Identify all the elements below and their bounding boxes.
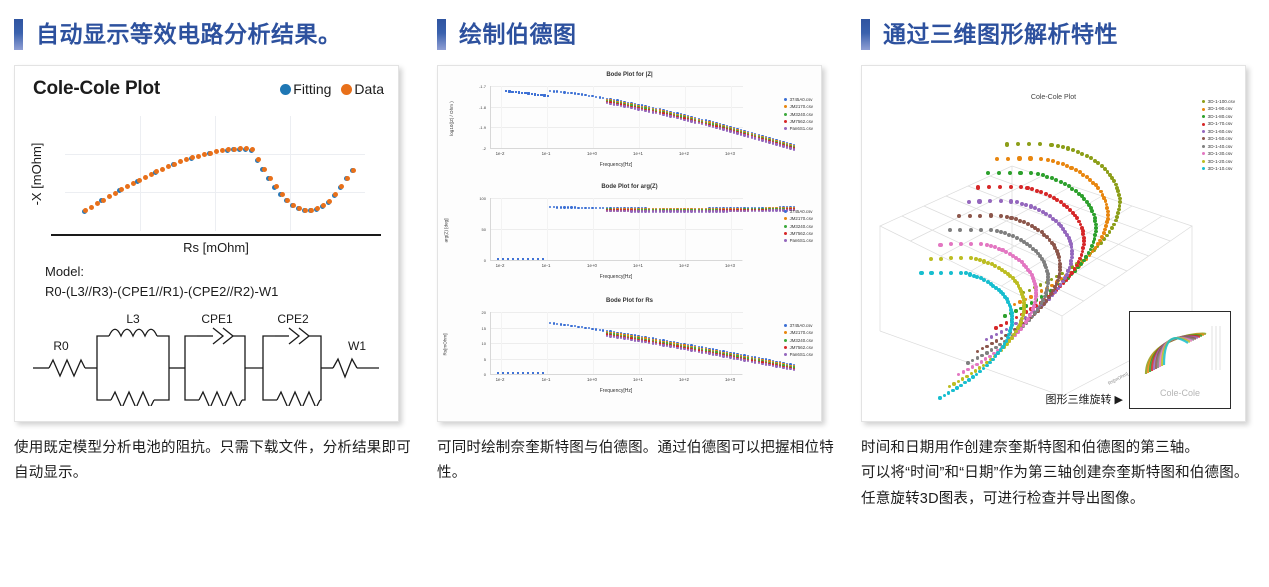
bode-data-point — [743, 134, 745, 136]
cole-cole-data-point — [274, 184, 279, 189]
bode-data-point — [591, 207, 593, 209]
bode-legend-label: JM7562.csv — [790, 118, 813, 125]
three-d-data-point — [1018, 171, 1022, 175]
three-d-data-point — [1036, 172, 1040, 176]
bode-legend-item: Pan6S1.csv — [784, 351, 813, 358]
bode-x-tick-label: 1e+1 — [633, 263, 643, 268]
three-d-data-point — [999, 214, 1003, 218]
panel-heading-2: 绘制伯德图 — [437, 0, 849, 58]
bode-data-point — [779, 144, 781, 146]
bode-legend-item: JM7562.csv — [784, 230, 813, 237]
bode-data-point — [567, 324, 569, 326]
bode-data-point — [683, 119, 685, 121]
bode-data-point — [690, 210, 692, 212]
bode-data-point — [708, 210, 710, 212]
bode-data-point — [540, 94, 542, 96]
bode-subplot: Bode Plot for Rs20151050Rs[mOhm]1e-21e-1… — [438, 298, 821, 390]
inset-thumbnail-graphic: Cole-Cole — [1130, 312, 1230, 408]
panel-3d: 通过三维图形解析特性 Cole-Cole Plot 3D-1-100.csv3D… — [861, 0, 1269, 587]
bode-data-point — [560, 323, 562, 325]
three-d-data-point — [971, 375, 975, 379]
bode-y-axis-label: log10(|Z| / Ohm ) — [449, 101, 454, 136]
bode-y-tick-label: 0 — [466, 258, 486, 263]
bode-data-point — [740, 358, 742, 360]
three-d-data-point — [985, 345, 988, 348]
legend-label-data: Data — [354, 81, 384, 97]
bode-x-tick-label: 1e+3 — [725, 263, 735, 268]
bode-data-point — [574, 206, 576, 208]
bode-y-tick-label: 10 — [466, 341, 486, 346]
three-d-data-point — [999, 324, 1002, 327]
bode-legend-item: JM3240.csv — [784, 223, 813, 230]
three-d-data-point — [989, 228, 993, 232]
cole-cole-plot-area — [65, 116, 365, 231]
bode-data-point — [698, 122, 700, 124]
bode-data-point — [768, 364, 770, 366]
bode-data-point — [652, 342, 654, 344]
three-d-data-point — [1046, 158, 1050, 162]
bode-x-tick-label: 1e+1 — [633, 377, 643, 382]
bode-data-point — [606, 335, 608, 337]
bode-data-point — [556, 90, 558, 92]
bode-data-point — [655, 112, 657, 114]
bode-data-point — [534, 93, 536, 95]
bode-y-tick-label: 100 — [466, 196, 486, 201]
bode-data-point — [581, 207, 583, 209]
bode-data-point — [722, 128, 724, 130]
bode-data-point — [690, 120, 692, 122]
three-d-data-point — [1056, 144, 1060, 148]
bode-data-point — [786, 367, 788, 369]
bode-data-point — [641, 210, 643, 212]
bode-data-point — [751, 136, 753, 138]
bode-data-point — [673, 210, 675, 212]
bode-y-axis-label: arg(Z) [deg] — [444, 219, 449, 243]
heading-title-2: 绘制伯德图 — [459, 23, 577, 46]
three-d-data-point — [1033, 311, 1037, 315]
bode-legend-label: Pan6S1.csv — [790, 125, 813, 132]
three-d-card[interactable]: Cole-Cole Plot 3D-1-100.csv3D-1-90.csv3D… — [861, 65, 1246, 422]
inset-caption[interactable]: 图形三维旋转 ▶ — [1045, 391, 1123, 407]
bode-data-point — [567, 206, 569, 208]
three-d-data-point — [988, 361, 992, 365]
bode-data-point — [712, 353, 714, 355]
cole-cole-data-point — [196, 154, 201, 159]
cole-cole-data-point — [89, 205, 94, 210]
bode-legend-item: 3745A0.csv — [784, 208, 813, 215]
bode-data-point — [652, 210, 654, 212]
cole-cole-data-point — [83, 208, 88, 213]
bode-data-point — [761, 139, 763, 141]
bode-data-point — [595, 96, 597, 98]
bode-subplot-title: Bode Plot for arg(Z) — [438, 184, 821, 190]
bode-data-point — [712, 126, 714, 128]
bode-data-point — [733, 357, 735, 359]
bode-data-point — [515, 91, 517, 93]
bode-data-point — [623, 210, 625, 212]
three-d-data-point — [979, 228, 983, 232]
bode-data-point — [719, 127, 721, 129]
bode-data-point — [553, 322, 555, 324]
three-d-data-point — [989, 213, 993, 217]
cole-cole-data-point — [107, 194, 112, 199]
legend-marker-icon — [784, 324, 787, 327]
bode-data-point — [584, 207, 586, 209]
three-d-data-point — [1008, 171, 1012, 175]
bode-data-point — [715, 354, 717, 356]
bode-data-point — [563, 324, 565, 326]
bode-data-point — [747, 135, 749, 137]
legend-marker-icon — [784, 232, 787, 235]
circuit-label-r0: R0 — [53, 339, 69, 353]
caption-3-line-1: 时间和日期用作创建奈奎斯特图和伯德图的第三轴。 — [861, 436, 1261, 461]
three-d-data-point — [938, 396, 941, 399]
bode-data-point — [673, 346, 675, 348]
bode-x-tick-label: 1e-2 — [496, 377, 505, 382]
bode-legend-label: 3745A0.csv — [790, 208, 813, 215]
panel-heading-1: 自动显示等效电路分析结果。 — [14, 0, 426, 58]
bode-data-point — [623, 337, 625, 339]
bode-data-point — [701, 351, 703, 353]
bode-data-point — [599, 329, 601, 331]
bode-data-point — [521, 92, 523, 94]
bode-data-point — [591, 328, 593, 330]
bode-y-tick-label: -1.8 — [466, 105, 486, 110]
rotation-preview-inset[interactable]: Cole-Cole — [1129, 311, 1231, 409]
bode-data-point — [634, 210, 636, 212]
bode-data-point — [602, 329, 604, 331]
cole-cole-title: Cole-Cole Plot — [33, 78, 160, 100]
bode-data-point — [726, 210, 728, 212]
bode-data-point — [527, 92, 529, 94]
bode-data-point — [630, 210, 632, 212]
bode-data-point — [676, 347, 678, 349]
bode-data-point — [637, 108, 639, 110]
bode-data-point — [595, 207, 597, 209]
bode-data-point — [694, 210, 696, 212]
bode-x-tick-label: 1e+2 — [679, 377, 689, 382]
bode-data-point — [531, 93, 533, 95]
bode-data-point — [726, 129, 728, 131]
bode-x-tick-label: 1e+2 — [679, 263, 689, 268]
bode-data-point — [570, 325, 572, 327]
bode-data-point — [758, 362, 760, 364]
bode-data-point — [747, 210, 749, 212]
bode-data-point — [694, 121, 696, 123]
bode-data-point — [669, 345, 671, 347]
bode-data-point — [793, 369, 795, 371]
bode-data-point — [719, 354, 721, 356]
bode-data-point — [715, 127, 717, 129]
legend-marker-icon — [784, 113, 787, 116]
bode-legend-label: JM3240.csv — [790, 111, 813, 118]
bode-data-point — [705, 352, 707, 354]
bode-data-point — [736, 210, 738, 212]
heading-title-1: 自动显示等效电路分析结果。 — [36, 23, 342, 46]
three-d-data-point — [1014, 309, 1017, 312]
bode-data-point — [775, 209, 777, 211]
bode-data-point — [655, 210, 657, 212]
bode-data-point — [553, 206, 555, 208]
bode-data-point — [754, 137, 756, 139]
three-d-data-point — [1084, 255, 1088, 259]
bode-data-point — [659, 210, 661, 212]
bode-x-tick-label: 1e+0 — [587, 263, 597, 268]
bode-plot-area — [490, 198, 743, 260]
bode-data-point — [511, 91, 513, 93]
cole-cole-data-point — [256, 157, 261, 162]
three-d-data-point — [1028, 156, 1032, 160]
three-d-data-point — [1005, 142, 1009, 146]
circuit-label-cpe2: CPE2 — [277, 312, 309, 326]
bode-data-point — [669, 115, 671, 117]
three-d-data-point — [959, 384, 962, 387]
three-d-data-point — [1061, 162, 1065, 166]
bode-data-point — [620, 210, 622, 212]
bode-legend: 3745A0.csvJM2170.csvJM3240.csvJM7562.csv… — [784, 96, 813, 132]
three-d-data-point — [962, 370, 965, 373]
cole-cole-data-point — [125, 184, 130, 189]
bode-y-tick-label: 0 — [466, 372, 486, 377]
bode-x-axis-label: Frequency[Hz] — [490, 274, 742, 280]
bode-data-point — [747, 360, 749, 362]
bode-data-point — [574, 92, 576, 94]
bode-x-tick-label: 1e+1 — [633, 151, 643, 156]
bode-data-point — [701, 210, 703, 212]
bode-data-point — [705, 210, 707, 212]
bode-data-point — [698, 210, 700, 212]
bode-y-tick-label: 50 — [466, 227, 486, 232]
bode-data-point — [560, 91, 562, 93]
bode-data-point — [751, 210, 753, 212]
bode-x-tick-label: 1e-1 — [542, 151, 551, 156]
three-d-data-point — [955, 386, 958, 389]
bode-data-point — [765, 363, 767, 365]
bode-legend-label: JM2170.csv — [790, 103, 813, 110]
bode-x-tick-label: 1e-1 — [542, 263, 551, 268]
bode-legend-label: 3745A0.csv — [790, 96, 813, 103]
bode-data-point — [765, 140, 767, 142]
bode-y-axis-label: Rs[mOhm] — [442, 334, 447, 356]
legend-marker-icon — [784, 120, 787, 123]
bode-data-point — [722, 355, 724, 357]
bode-data-point — [659, 113, 661, 115]
bode-subplot: Bode Plot for arg(Z)100500arg(Z) [deg]1e… — [438, 184, 821, 276]
bode-legend-item: JM7562.csv — [784, 344, 813, 351]
three-d-data-point — [977, 199, 981, 203]
svg-text:Cole-Cole: Cole-Cole — [1160, 388, 1200, 398]
bode-data-point — [775, 365, 777, 367]
bode-data-point — [637, 340, 639, 342]
bode-data-point — [556, 323, 558, 325]
bode-x-tick-label: 1e-2 — [496, 263, 505, 268]
cole-cole-data-point — [137, 178, 142, 183]
bode-data-point — [754, 210, 756, 212]
cole-cole-data-point — [101, 198, 106, 203]
bode-data-point — [620, 337, 622, 339]
bode-legend-item: 3745A0.csv — [784, 322, 813, 329]
bode-data-point — [729, 130, 731, 132]
bode-data-point — [687, 349, 689, 351]
bode-card: Bode Plot for |Z|-1.7-1.8-1.9-2log10(|Z|… — [437, 65, 822, 422]
bode-data-point — [782, 145, 784, 147]
bode-data-point — [620, 105, 622, 107]
bode-subplot-title: Bode Plot for |Z| — [438, 72, 821, 78]
bode-data-point — [549, 322, 551, 324]
bode-data-point — [673, 116, 675, 118]
three-d-data-point — [1028, 289, 1031, 292]
three-d-data-point — [957, 380, 960, 383]
three-d-data-point — [1076, 150, 1080, 154]
bode-data-point — [577, 93, 579, 95]
bode-data-point — [508, 90, 510, 92]
bode-legend-item: JM7562.csv — [784, 118, 813, 125]
heading-accent-bar-icon — [861, 19, 870, 50]
bode-data-point — [722, 210, 724, 212]
bode-data-point — [537, 94, 539, 96]
bode-x-axis-label: Frequency[Hz] — [490, 162, 742, 168]
three-d-data-point — [1009, 216, 1013, 220]
bode-data-point — [789, 147, 791, 149]
bode-data-point — [676, 210, 678, 212]
bode-data-point — [543, 94, 545, 96]
cole-cole-card: Cole-Cole Plot Fitting Data — [14, 65, 399, 422]
bode-data-point — [613, 210, 615, 212]
bode-data-point — [616, 336, 618, 338]
bode-data-point — [729, 356, 731, 358]
bode-plot-body: 20151050Rs[mOhm]1e-21e-11e+01e+11e+21e+3… — [438, 308, 821, 390]
bode-data-point — [779, 209, 781, 211]
three-d-data-point — [929, 271, 933, 275]
three-d-data-point — [967, 378, 971, 382]
bode-y-tick-label: -2 — [466, 146, 486, 151]
bode-data-point — [641, 109, 643, 111]
legend-marker-icon — [784, 127, 787, 130]
three-d-data-point — [1049, 143, 1053, 147]
three-d-data-point — [949, 271, 953, 275]
bode-data-point — [616, 104, 618, 106]
bode-data-point — [606, 210, 608, 212]
bode-data-point — [708, 352, 710, 354]
three-d-data-point — [1108, 230, 1112, 234]
bode-data-point — [779, 366, 781, 368]
bode-data-point — [719, 210, 721, 212]
bode-data-point — [570, 206, 572, 208]
model-text: Model: R0-(L3//R3)-(CPE1//R1)-(CPE2//R2)… — [45, 262, 278, 301]
bode-data-point — [768, 209, 770, 211]
legend-marker-icon — [784, 98, 787, 101]
legend-item-data: Data — [341, 81, 384, 97]
bode-data-point — [708, 125, 710, 127]
three-d-data-point — [976, 185, 980, 189]
three-d-data-point — [997, 171, 1001, 175]
bode-data-point — [690, 349, 692, 351]
cole-cole-data-point — [345, 176, 350, 181]
cole-cole-legend: Fitting Data — [280, 81, 384, 97]
bode-data-point — [701, 123, 703, 125]
feature-showcase-page: 自动显示等效电路分析结果。 Cole-Cole Plot Fitting Dat… — [0, 0, 1269, 587]
bode-data-point — [599, 207, 601, 209]
three-d-data-point — [1094, 246, 1098, 250]
bode-data-point — [694, 350, 696, 352]
panel-bode: 绘制伯德图 Bode Plot for |Z|-1.7-1.8-1.9-2log… — [437, 0, 849, 587]
bode-x-tick-label: 1e-1 — [542, 377, 551, 382]
bode-data-point — [588, 207, 590, 209]
bode-data-point — [634, 339, 636, 341]
three-d-data-point — [994, 326, 997, 329]
three-d-data-point — [1070, 271, 1074, 275]
three-d-data-point — [1017, 156, 1021, 160]
bode-x-tick-label: 1e+3 — [725, 151, 735, 156]
bode-legend-label: JM7562.csv — [790, 230, 813, 237]
three-d-data-point — [939, 257, 943, 261]
bode-data-point — [616, 210, 618, 212]
cole-cole-data-point — [262, 167, 267, 172]
three-d-data-point — [1009, 199, 1013, 203]
three-d-data-point — [952, 382, 955, 385]
bode-data-point — [733, 210, 735, 212]
bode-legend-label: Pan6S1.csv — [790, 351, 813, 358]
bode-data-point — [793, 148, 795, 150]
bode-data-point — [666, 210, 668, 212]
circuit-label-l3: L3 — [126, 312, 140, 326]
bode-data-point — [754, 361, 756, 363]
bode-data-point — [648, 110, 650, 112]
bode-data-point — [609, 103, 611, 105]
bode-data-point — [758, 138, 760, 140]
three-d-data-point — [985, 351, 988, 354]
heading-accent-bar-icon — [14, 19, 23, 50]
caption-3-line-2: 可以将“时间”和“日期”作为第三轴创建奈奎斯特图和伯德图。任意旋转3D图表，可进… — [861, 461, 1261, 512]
bode-x-tick-label: 1e+3 — [725, 377, 735, 382]
bode-data-point — [549, 206, 551, 208]
bode-x-tick-label: 1e+2 — [679, 151, 689, 156]
bode-data-point — [613, 336, 615, 338]
three-d-data-point — [919, 271, 923, 275]
legend-marker-icon — [784, 217, 787, 220]
bode-data-point — [698, 351, 700, 353]
three-d-data-point — [1005, 321, 1008, 324]
three-d-data-point — [978, 370, 982, 374]
bode-data-point — [662, 344, 664, 346]
bode-data-point — [775, 143, 777, 145]
bode-data-point — [553, 90, 555, 92]
bode-data-point — [676, 117, 678, 119]
bode-legend-item: JM2170.csv — [784, 215, 813, 222]
legend-marker-icon — [784, 210, 787, 213]
circuit-label-cpe1: CPE1 — [201, 312, 233, 326]
bode-legend-item: Pan6S1.csv — [784, 125, 813, 132]
cole-cole-data-point — [208, 151, 213, 156]
bode-x-tick-label: 1e+0 — [587, 151, 597, 156]
bode-data-point — [623, 105, 625, 107]
three-d-data-point — [1069, 166, 1073, 170]
legend-marker-icon — [784, 353, 787, 356]
three-d-data-point — [976, 356, 979, 359]
bode-data-point — [662, 114, 664, 116]
bode-data-point — [505, 90, 507, 92]
three-d-data-point — [959, 271, 963, 275]
bode-data-point — [736, 358, 738, 360]
bode-legend-item: JM2170.csv — [784, 103, 813, 110]
bode-data-point — [563, 206, 565, 208]
bode-legend-item: Pan6S1.csv — [784, 237, 813, 244]
legend-marker-icon — [784, 331, 787, 334]
legend-marker-icon — [784, 225, 787, 228]
model-label: Model: — [45, 262, 278, 282]
bode-data-point — [609, 210, 611, 212]
bode-data-point — [549, 90, 551, 92]
